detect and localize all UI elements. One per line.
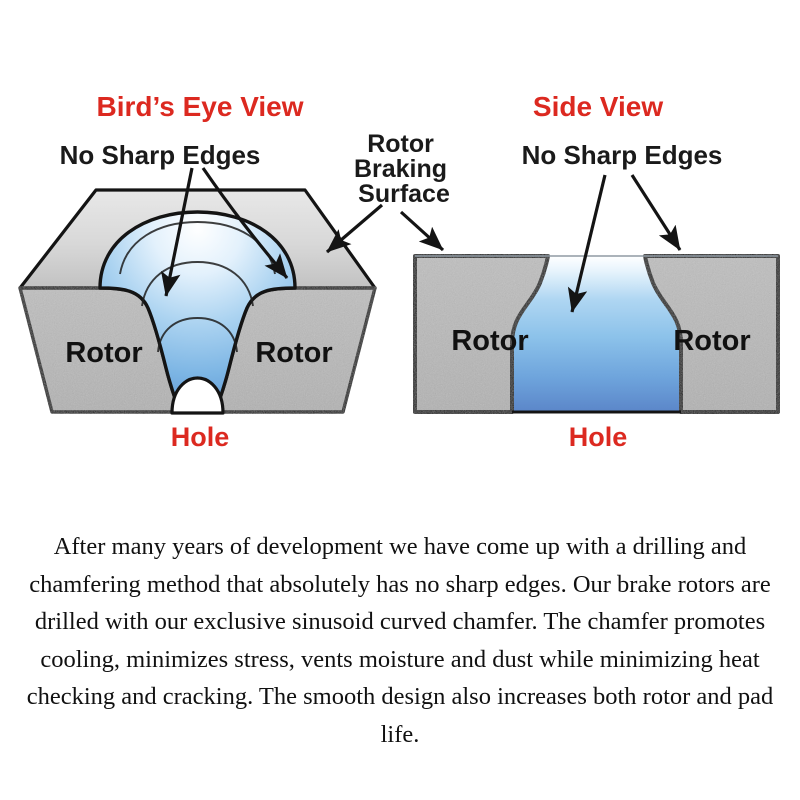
birds-eye-view-group bbox=[20, 168, 382, 413]
birds-eye-rotor-left-label: Rotor bbox=[65, 337, 142, 369]
rotor-braking-surface-label: Rotor Braking Surface bbox=[354, 130, 454, 208]
arrow-rotor-braking-surface bbox=[327, 205, 382, 252]
side-arrow-no-sharp-edges-right bbox=[632, 175, 680, 250]
side-view-title: Side View bbox=[533, 91, 663, 122]
side-no-sharp-edges-label: No Sharp Edges bbox=[522, 140, 723, 170]
side-rotor-left-label: Rotor bbox=[451, 325, 528, 357]
side-hole-label: Hole bbox=[569, 422, 628, 452]
birds-eye-rotor-right-label: Rotor bbox=[255, 337, 332, 369]
side-view-group bbox=[401, 175, 778, 412]
birds-eye-no-sharp-edges-label: No Sharp Edges bbox=[60, 140, 261, 170]
description-paragraph: After many years of development we have … bbox=[8, 528, 792, 753]
rbs-line-1: Rotor bbox=[367, 130, 434, 158]
side-rotor-right-label: Rotor bbox=[673, 325, 750, 357]
side-arrow-rotor-braking-surface bbox=[401, 212, 443, 250]
diagram-page: Bird’s Eye View No Sharp Edges Rotor Bra… bbox=[0, 0, 800, 800]
birds-eye-hole-label: Hole bbox=[171, 422, 230, 452]
birds-eye-view-title: Bird’s Eye View bbox=[97, 91, 304, 122]
rbs-line-2: Braking bbox=[354, 155, 447, 183]
rbs-line-3: Surface bbox=[358, 180, 450, 208]
